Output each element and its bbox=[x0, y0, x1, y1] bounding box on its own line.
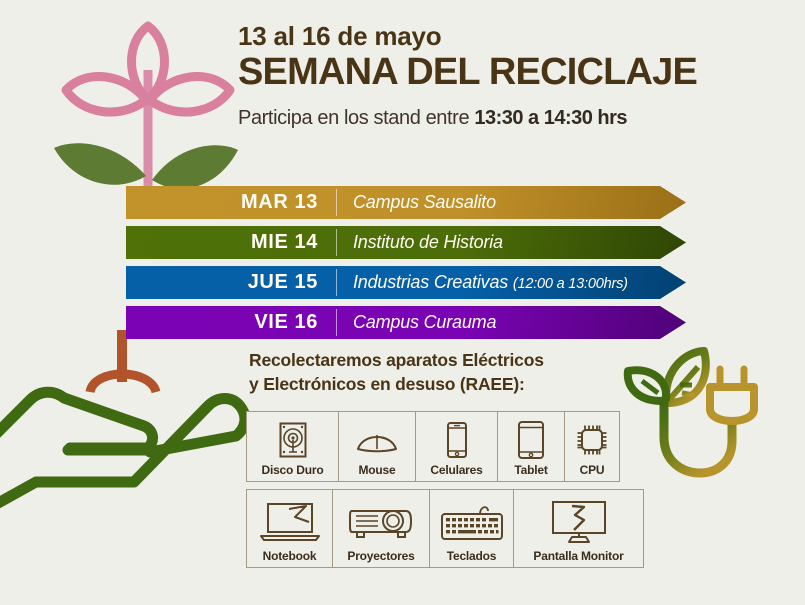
schedule-day: JUE 15 bbox=[126, 271, 336, 294]
schedule-row: JUE 15 Industrias Creativas (12:00 a 13:… bbox=[126, 266, 686, 299]
schedule-row: VIE 16 Campus Curauma bbox=[126, 306, 686, 339]
device-cell-disco-duro: Disco Duro bbox=[246, 411, 338, 482]
schedule-place-note: (12:00 a 13:00hrs) bbox=[513, 276, 628, 292]
schedule-day: MAR 13 bbox=[126, 191, 336, 214]
device-label: Pantalla Monitor bbox=[533, 549, 623, 563]
keyboard-icon bbox=[434, 495, 509, 549]
schedule-place-text: Instituto de Historia bbox=[353, 232, 503, 252]
schedule-place-text: Industrias Creativas bbox=[353, 272, 513, 292]
open-hand-holding-soil-illustration bbox=[0, 330, 264, 530]
device-cell-celulares: Celulares bbox=[415, 411, 497, 482]
laptop-icon bbox=[251, 495, 328, 549]
device-grid-row: Disco Duro Mouse bbox=[246, 411, 644, 482]
raee-heading-line1: Recolectaremos aparatos Eléctricos bbox=[249, 349, 544, 373]
device-cell-mouse: Mouse bbox=[338, 411, 415, 482]
schedule-row: MAR 13 Campus Sausalito bbox=[126, 186, 686, 219]
schedule-place: Instituto de Historia bbox=[337, 232, 503, 253]
device-grid-row: Notebook Proyectores bbox=[246, 489, 644, 568]
device-label: Celulares bbox=[430, 463, 482, 477]
device-label: Proyectores bbox=[347, 549, 414, 563]
broken-monitor-icon bbox=[518, 495, 639, 549]
device-cell-tablet: Tablet bbox=[497, 411, 564, 482]
subtitle-time: 13:30 a 14:30 hrs bbox=[474, 107, 627, 129]
raee-heading: Recolectaremos aparatos Eléctricos y Ele… bbox=[249, 349, 544, 396]
projector-icon bbox=[337, 495, 425, 549]
date-range-kicker: 13 al 16 de mayo bbox=[238, 22, 778, 51]
cpu-chip-icon bbox=[569, 417, 615, 463]
schedule-place: Campus Sausalito bbox=[337, 192, 496, 213]
tablet-icon bbox=[502, 417, 560, 463]
device-label: Mouse bbox=[358, 463, 395, 477]
device-grid: Disco Duro Mouse bbox=[246, 411, 644, 575]
device-cell-pantalla-monitor: Pantalla Monitor bbox=[513, 489, 644, 568]
device-label: Notebook bbox=[263, 549, 317, 563]
page-title: SEMANA DEL RECICLAJE bbox=[238, 52, 778, 93]
device-cell-teclados: Teclados bbox=[429, 489, 513, 568]
participation-subtitle: Participa en los stand entre 13:30 a 14:… bbox=[238, 107, 778, 130]
schedule-day: MIE 14 bbox=[126, 231, 336, 254]
device-cell-cpu: CPU bbox=[564, 411, 620, 482]
device-label: Disco Duro bbox=[261, 463, 323, 477]
mouse-icon bbox=[343, 417, 411, 463]
schedule-place-text: Campus Curauma bbox=[353, 312, 496, 332]
device-label: CPU bbox=[580, 463, 605, 477]
schedule-day: VIE 16 bbox=[126, 311, 336, 334]
schedule-place: Industrias Creativas (12:00 a 13:00hrs) bbox=[337, 272, 628, 293]
recycling-week-poster: 13 al 16 de mayo SEMANA DEL RECICLAJE Pa… bbox=[0, 0, 805, 605]
smartphone-icon bbox=[420, 417, 493, 463]
raee-heading-line2: y Electrónicos en desuso (RAEE): bbox=[249, 373, 544, 397]
subtitle-prefix: Participa en los stand entre bbox=[238, 107, 474, 129]
device-label: Tablet bbox=[514, 463, 547, 477]
device-cell-proyectores: Proyectores bbox=[332, 489, 429, 568]
schedule-list: MAR 13 Campus Sausalito MIE 14 Instituto… bbox=[126, 186, 686, 346]
schedule-place-text: Campus Sausalito bbox=[353, 192, 496, 212]
hard-drive-icon bbox=[251, 417, 334, 463]
poster-header: 13 al 16 de mayo SEMANA DEL RECICLAJE Pa… bbox=[238, 22, 778, 130]
device-cell-notebook: Notebook bbox=[246, 489, 332, 568]
device-label: Teclados bbox=[447, 549, 497, 563]
schedule-row: MIE 14 Instituto de Historia bbox=[126, 226, 686, 259]
schedule-place: Campus Curauma bbox=[337, 312, 496, 333]
